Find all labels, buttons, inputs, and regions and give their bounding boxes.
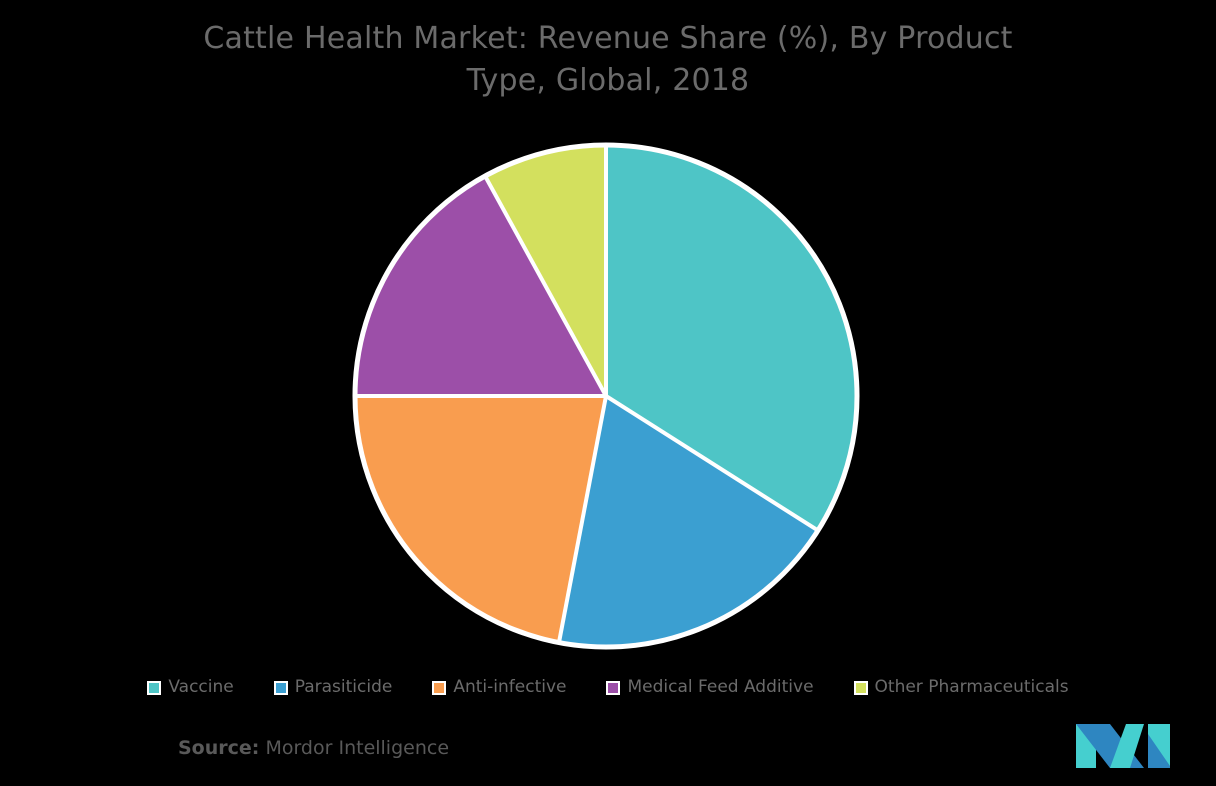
legend-item[interactable]: Parasiticide: [274, 678, 393, 697]
legend-swatch-icon: [854, 681, 868, 695]
legend-item[interactable]: Anti-infective: [432, 678, 566, 697]
legend-item-label: Other Pharmaceuticals: [875, 678, 1069, 697]
mordor-intelligence-logo: [1074, 716, 1178, 770]
pie-chart: [352, 142, 860, 650]
legend-swatch-icon: [147, 681, 161, 695]
chart-page: Cattle Health Market: Revenue Share (%),…: [0, 0, 1216, 786]
legend-item[interactable]: Vaccine: [147, 678, 233, 697]
legend-swatch-icon: [606, 681, 620, 695]
source-label: Source:: [178, 737, 259, 759]
chart-title: Cattle Health Market: Revenue Share (%),…: [0, 18, 1216, 102]
legend-item[interactable]: Medical Feed Additive: [606, 678, 813, 697]
mi-logo-icon: [1074, 716, 1178, 770]
legend-item-label: Medical Feed Additive: [627, 678, 813, 697]
chart-legend: VaccineParasiticideAnti-infectiveMedical…: [0, 678, 1216, 697]
legend-item-label: Parasiticide: [295, 678, 393, 697]
source-value: Mordor Intelligence: [265, 737, 449, 759]
legend-item-label: Anti-infective: [453, 678, 566, 697]
legend-item[interactable]: Other Pharmaceuticals: [854, 678, 1069, 697]
legend-swatch-icon: [274, 681, 288, 695]
legend-swatch-icon: [432, 681, 446, 695]
pie-chart-svg: [352, 142, 860, 650]
legend-item-label: Vaccine: [168, 678, 233, 697]
source-line: Source: Mordor Intelligence: [178, 736, 449, 760]
